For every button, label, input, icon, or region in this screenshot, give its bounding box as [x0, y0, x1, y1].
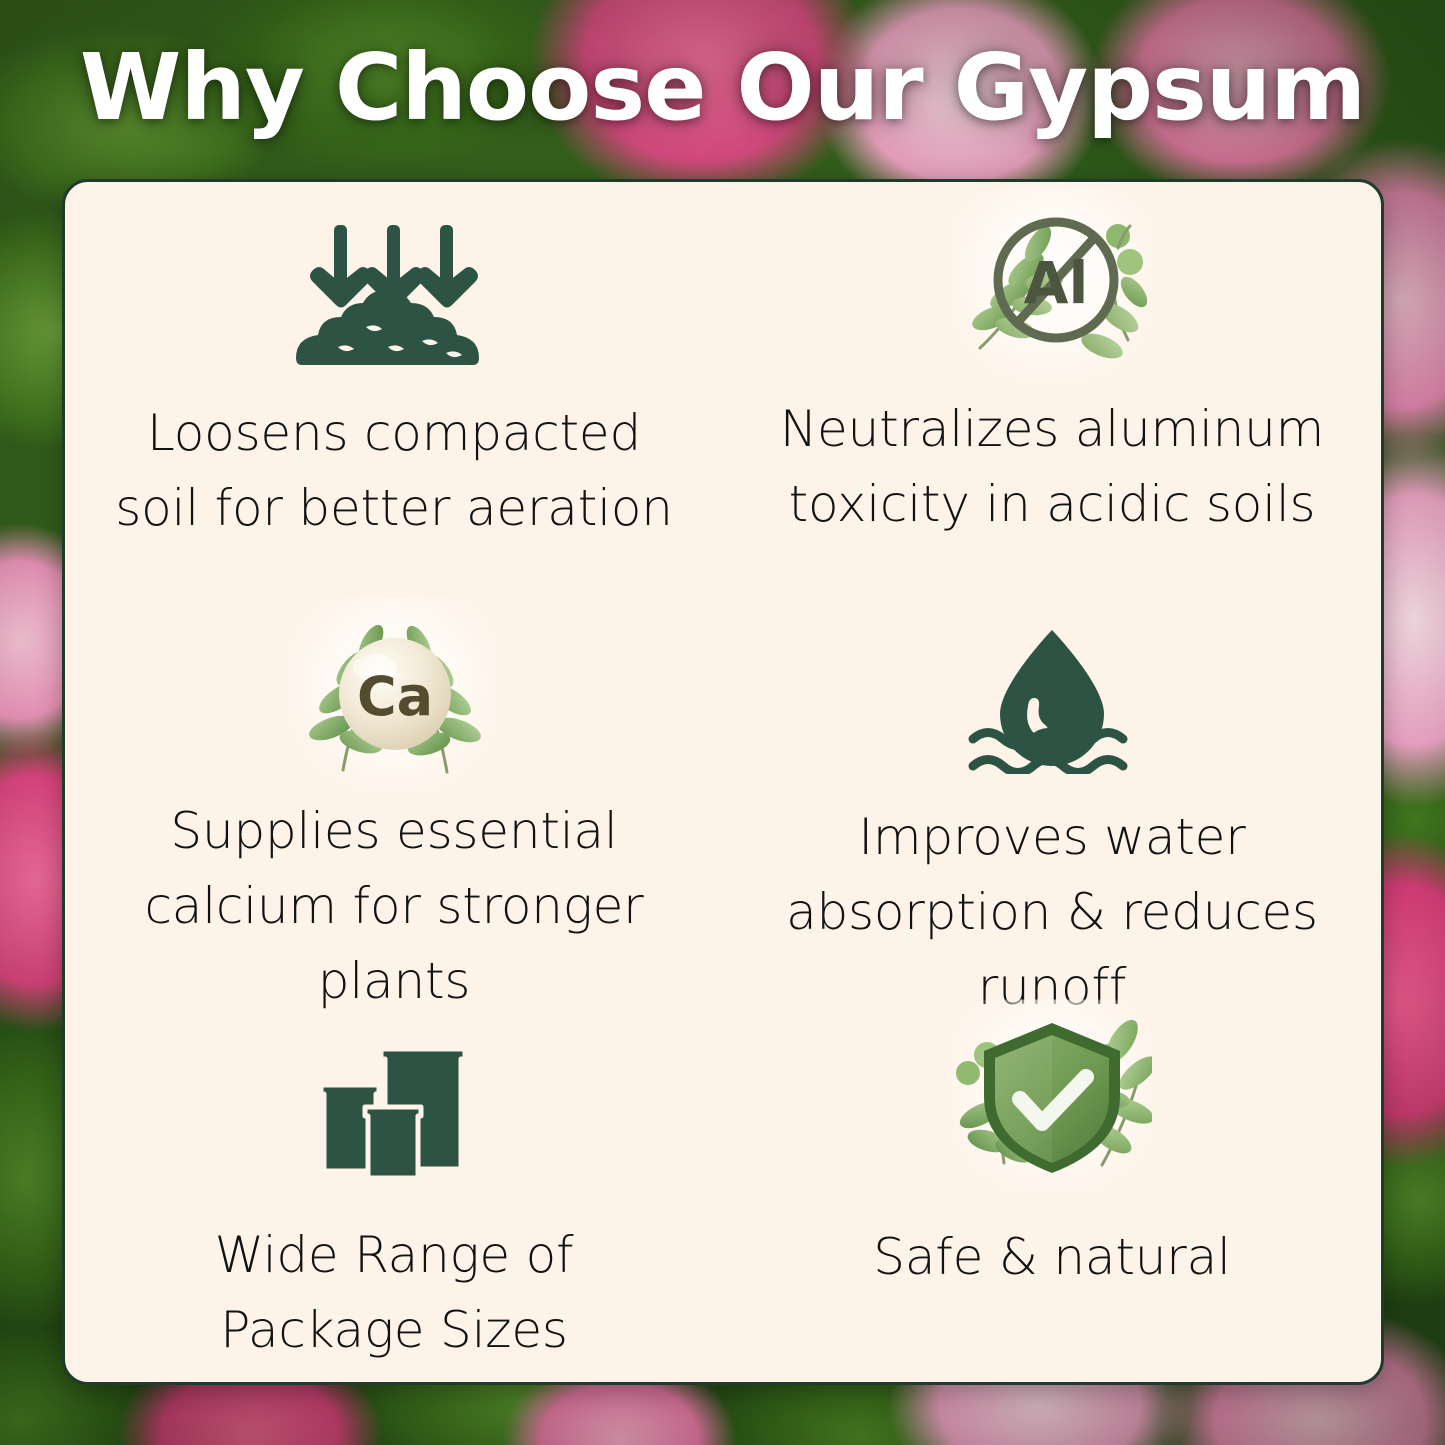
- no-aluminum-icon-wrap: Al: [952, 200, 1152, 370]
- page-title: Why Choose Our Gypsum: [0, 38, 1445, 137]
- calcium-symbol-text: Ca: [356, 665, 432, 728]
- package-bags-icon: [307, 1027, 482, 1192]
- benefit-label: Safe & natural: [873, 1220, 1230, 1295]
- benefit-item-loosens-soil: Loosens compacted soil for better aerati…: [65, 182, 723, 602]
- benefit-label: Loosens compacted soil for better aerati…: [114, 396, 674, 546]
- benefit-item-package-sizes: Wide Range of Package Sizes: [65, 1002, 723, 1385]
- water-droplet-icon: [965, 624, 1140, 774]
- benefit-label: Neutralizes aluminum toxicity in acidic …: [772, 392, 1332, 542]
- benefits-grid: Loosens compacted soil for better aerati…: [65, 182, 1381, 1382]
- water-icon-wrap: [965, 624, 1140, 774]
- no-aluminum-icon: Al: [952, 200, 1152, 370]
- benefit-label: Supplies essential calcium for stronger …: [114, 794, 674, 1019]
- calcium-sphere-icon: Ca: [287, 610, 502, 780]
- soil-aeration-icon-wrap: [294, 210, 494, 380]
- soil-aeration-icon: [294, 213, 494, 378]
- benefit-item-supplies-calcium: Ca Supplies essential calcium for strong…: [65, 602, 723, 1002]
- package-icon-wrap: [307, 1024, 482, 1194]
- benefit-item-neutralizes-aluminum: Al Neutralizes aluminum toxicity in acid…: [723, 182, 1381, 602]
- benefits-card: Loosens compacted soil for better aerati…: [62, 179, 1384, 1385]
- no-aluminum-symbol-text: Al: [1024, 249, 1089, 317]
- benefit-item-safe-natural: Safe & natural: [723, 1002, 1381, 1385]
- shield-check-leaves-icon: [952, 1011, 1152, 1183]
- shield-icon-wrap: [952, 1012, 1152, 1182]
- benefit-label: Improves water absorption & reduces runo…: [772, 800, 1332, 1025]
- product-feature-poster: Why Choose Our Gypsum: [0, 0, 1445, 1445]
- calcium-icon-wrap: Ca: [287, 610, 502, 780]
- benefit-label: Wide Range of Package Sizes: [114, 1218, 674, 1368]
- benefit-item-improves-water: Improves water absorption & reduces runo…: [723, 602, 1381, 1002]
